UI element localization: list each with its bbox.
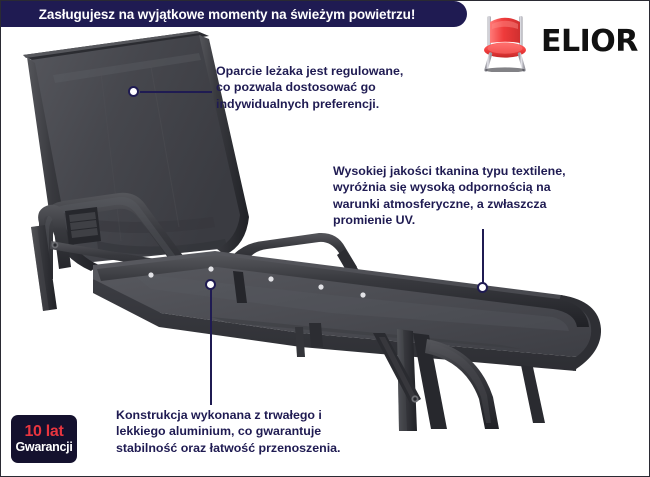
warranty-years: 10 lat	[24, 424, 63, 441]
callout-backrest-text: Oparcie leżaka jest regulowane, co pozwa…	[216, 63, 466, 112]
leader-line-3	[210, 289, 212, 405]
brand-logo: ELIOR	[477, 11, 637, 73]
warranty-badge: 10 lat Gwarancji	[11, 415, 77, 463]
leader-line-1	[140, 91, 212, 93]
anchor-dot-backrest	[128, 86, 139, 97]
product-infographic: Zasługujesz na wyjątkowe momenty na świe…	[0, 0, 650, 477]
callout-fabric-text: Wysokiej jakości tkanina typu textilene,…	[333, 163, 633, 229]
brand-name: ELIOR	[541, 27, 638, 57]
header-banner-text: Zasługujesz na wyjątkowe momenty na świe…	[39, 7, 415, 22]
warranty-label: Gwarancji	[15, 441, 72, 454]
red-chair-icon	[477, 12, 533, 72]
callout-frame-text: Konstrukcja wykonana z trwałego i lekkie…	[116, 407, 436, 456]
anchor-dot-fabric	[477, 282, 488, 293]
anchor-dot-frame	[205, 279, 216, 290]
header-banner: Zasługujesz na wyjątkowe momenty na świe…	[0, 1, 467, 27]
leader-line-2	[482, 229, 484, 286]
